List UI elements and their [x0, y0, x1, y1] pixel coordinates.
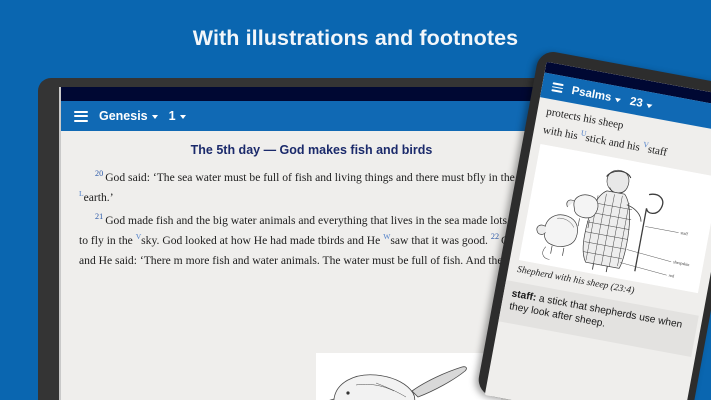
verse-text-part: staff	[647, 143, 668, 158]
chapter-label: 1	[169, 109, 176, 123]
verse-text-part: birds and He	[321, 234, 383, 247]
tablet-app-bar: Genesis 1	[61, 101, 558, 131]
page-title: With illustrations and footnotes	[0, 26, 711, 51]
verse-text: 20God said: ‘The sea water must be full …	[79, 167, 558, 271]
chevron-down-icon	[152, 115, 158, 119]
chapter-label: 23	[629, 95, 644, 109]
hamburger-icon[interactable]	[551, 80, 564, 95]
verse-number: 22	[491, 232, 501, 241]
chapter-heading: The 5th day — God makes fish and birds	[79, 143, 544, 157]
verse-text-part: saw that it was good.	[390, 234, 490, 247]
verse-20: 20God said: ‘The sea water must be full …	[79, 167, 558, 208]
chevron-down-icon	[646, 103, 653, 108]
chevron-down-icon	[615, 97, 622, 102]
tablet-status-bar	[61, 87, 558, 101]
book-selector[interactable]: Psalms	[571, 84, 623, 105]
chapter-selector[interactable]: 23	[629, 95, 654, 111]
bird-illustration	[316, 353, 501, 400]
phone-reading-page[interactable]: protects his sheep with his Ustick and h…	[498, 97, 711, 358]
verse-number: 21	[95, 212, 105, 221]
hamburger-icon[interactable]	[74, 108, 88, 124]
verse-21: 21God made fish and the big water animal…	[79, 210, 558, 271]
verse-text-part: earth.’	[84, 191, 114, 204]
verse-text-part: God said: ‘The sea water must be full of…	[105, 171, 473, 184]
tablet-device: Genesis 1 The 5th day — God makes fish a…	[38, 78, 558, 400]
book-selector[interactable]: Genesis	[99, 109, 158, 123]
book-label: Genesis	[99, 109, 148, 123]
verse-text-part: sky. God looked at how He had made t	[141, 234, 321, 247]
book-label: Psalms	[571, 84, 613, 103]
verse-number: 20	[95, 169, 105, 178]
verse-text-part: fly in the	[473, 171, 518, 184]
chevron-down-icon	[180, 115, 186, 119]
promo-screenshot: With illustrations and footnotes Genesis…	[0, 0, 711, 400]
verse-text-part: God made fish and the big water animals …	[105, 213, 459, 226]
verse-text-part: with his	[542, 123, 581, 142]
verse-text-part: more fish and water animals. The water m…	[183, 254, 551, 267]
two-birds-sketch	[316, 353, 501, 400]
chapter-selector[interactable]: 1	[169, 109, 186, 123]
